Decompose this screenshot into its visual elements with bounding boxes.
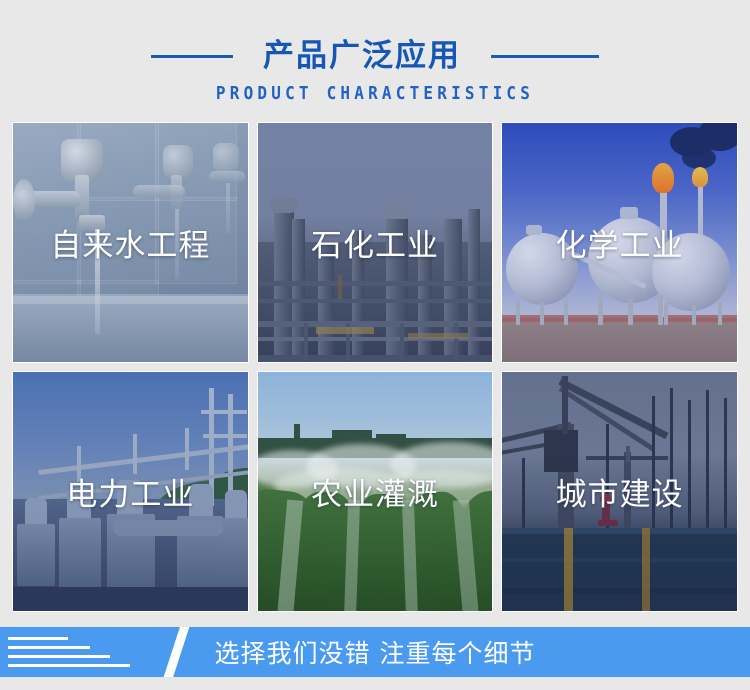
grid-cell-label: 自来水工程 xyxy=(50,220,210,265)
title-rule-left xyxy=(151,55,233,58)
footer-slogan: 选择我们没错 注重每个细节 xyxy=(0,627,750,677)
grid-cell-label: 石化工业 xyxy=(311,220,439,265)
grid-cell-label: 农业灌溉 xyxy=(311,469,439,514)
footer-banner: 选择我们没错 注重每个细节 xyxy=(0,627,750,677)
promo-banner: 产品广泛应用 PRODUCT CHARACTERISTICS xyxy=(0,0,750,690)
grid-cell-petrochemical[interactable]: 石化工业 xyxy=(257,122,494,363)
grid-cell-label: 城市建设 xyxy=(556,469,684,514)
grid-cell-water-supply[interactable]: 自来水工程 xyxy=(12,122,249,363)
page-title: 产品广泛应用 xyxy=(263,41,461,72)
grid-cell-urban-construction[interactable]: 城市建设 xyxy=(501,371,738,612)
title-rule-right xyxy=(491,55,599,58)
application-grid: 自来水工程 xyxy=(12,122,738,612)
title-row: 产品广泛应用 xyxy=(0,36,750,76)
header: 产品广泛应用 PRODUCT CHARACTERISTICS xyxy=(0,0,750,118)
grid-cell-label: 电力工业 xyxy=(66,469,194,514)
grid-cell-agricultural-irrigation[interactable]: 农业灌溉 xyxy=(257,371,494,612)
grid-cell-label: 化学工业 xyxy=(556,220,684,265)
grid-cell-chemical-industry[interactable]: 化学工业 xyxy=(501,122,738,363)
page-subtitle: PRODUCT CHARACTERISTICS xyxy=(0,82,750,103)
grid-cell-power-industry[interactable]: 电力工业 xyxy=(12,371,249,612)
